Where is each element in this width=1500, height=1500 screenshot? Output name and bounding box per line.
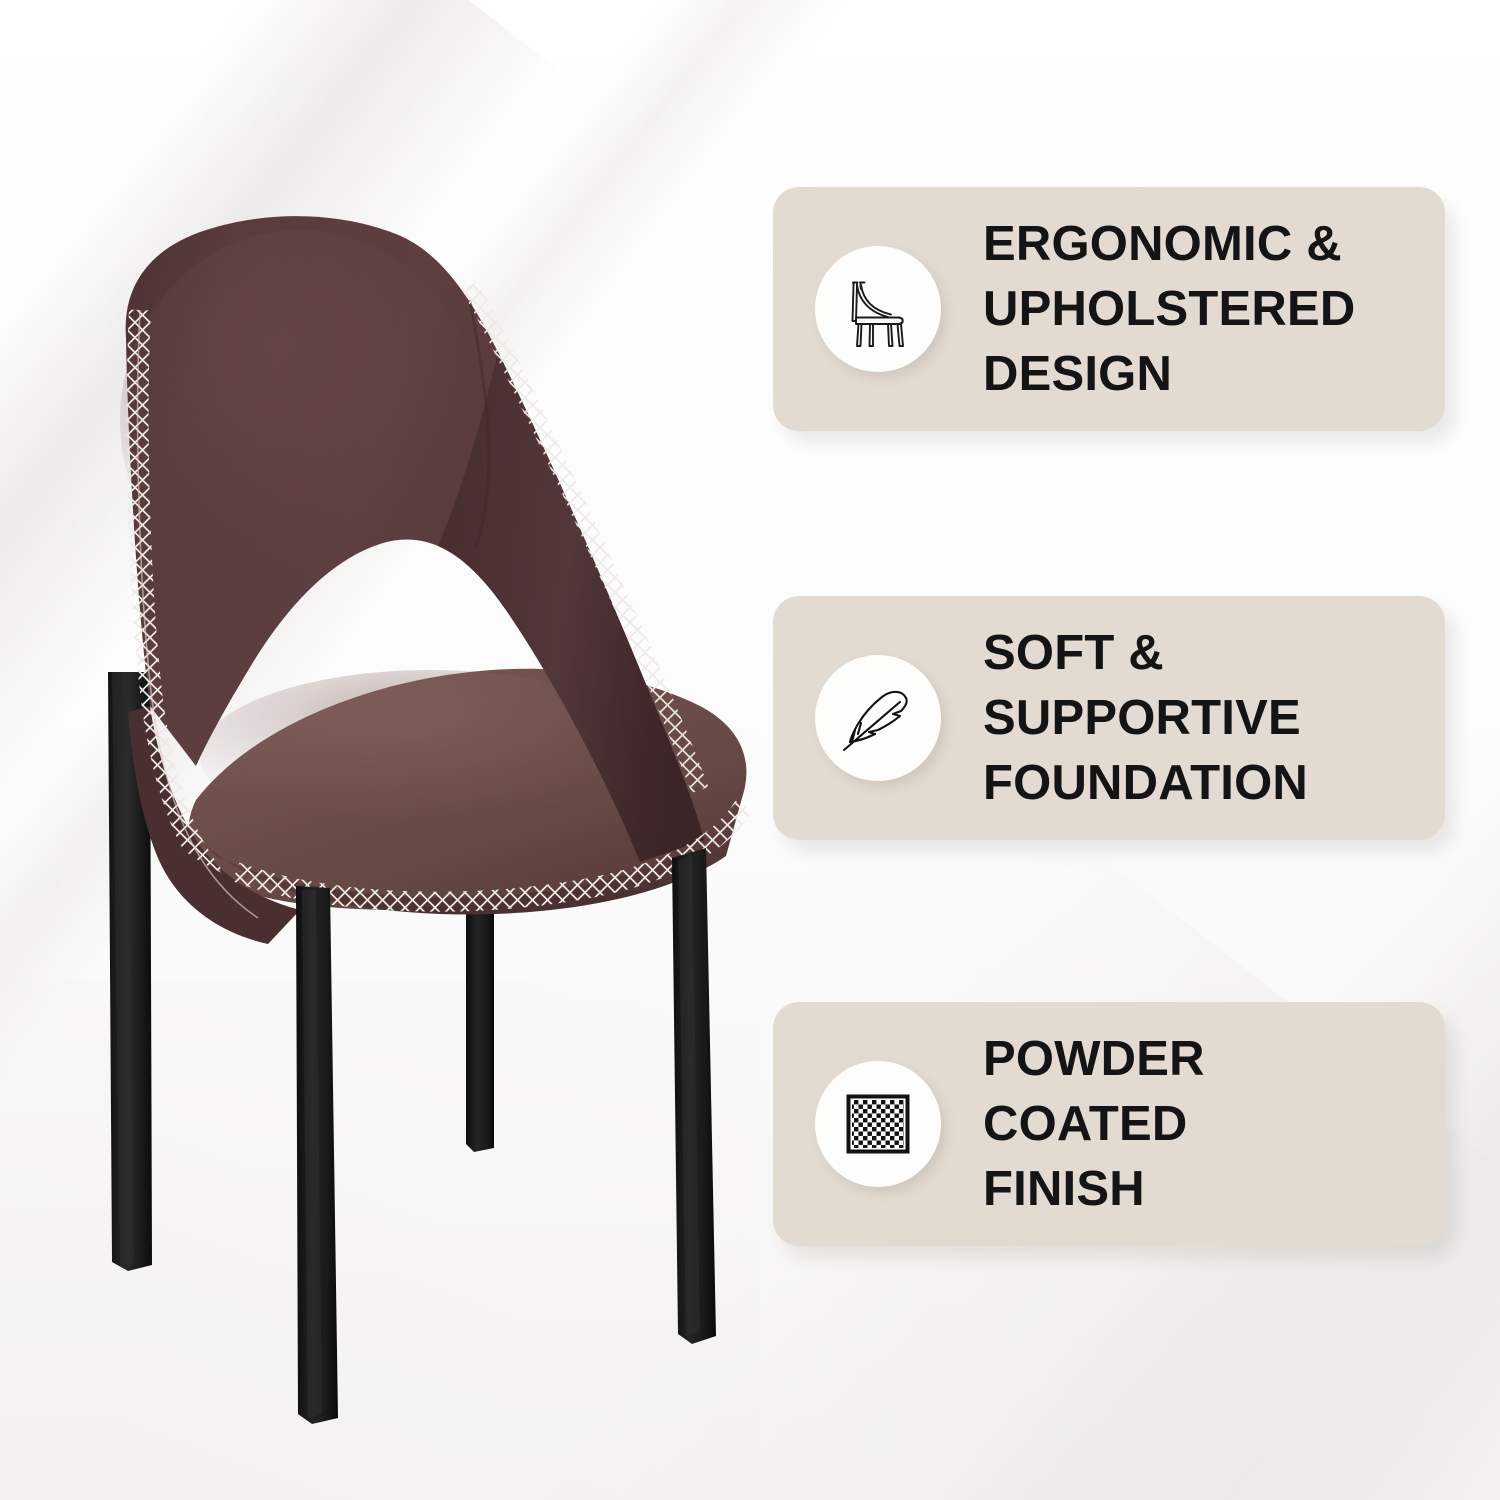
feather-icon xyxy=(836,676,920,760)
feature-label: SOFT & SUPPORTIVE FOUNDATION xyxy=(983,621,1308,816)
feature-card-powder-coated[interactable]: POWDER COATED FINISH xyxy=(773,1002,1445,1246)
icon-badge xyxy=(815,655,941,781)
feature-card-list: ERGONOMIC & UPHOLSTERED DESIGN xyxy=(773,0,1473,1500)
product-image xyxy=(0,0,790,1500)
icon-badge xyxy=(815,246,941,372)
feature-label: ERGONOMIC & UPHOLSTERED DESIGN xyxy=(983,212,1355,407)
feature-card-ergonomic[interactable]: ERGONOMIC & UPHOLSTERED DESIGN xyxy=(773,187,1445,431)
icon-badge xyxy=(815,1061,941,1187)
chair-illustration xyxy=(0,0,790,1500)
mesh-texture-icon xyxy=(836,1082,920,1166)
feature-label: POWDER COATED FINISH xyxy=(983,1027,1205,1222)
feature-card-soft-support[interactable]: SOFT & SUPPORTIVE FOUNDATION xyxy=(773,596,1445,840)
product-infographic: ERGONOMIC & UPHOLSTERED DESIGN xyxy=(0,0,1500,1500)
chair-legs-front xyxy=(296,848,716,1424)
chair-icon xyxy=(836,267,920,351)
